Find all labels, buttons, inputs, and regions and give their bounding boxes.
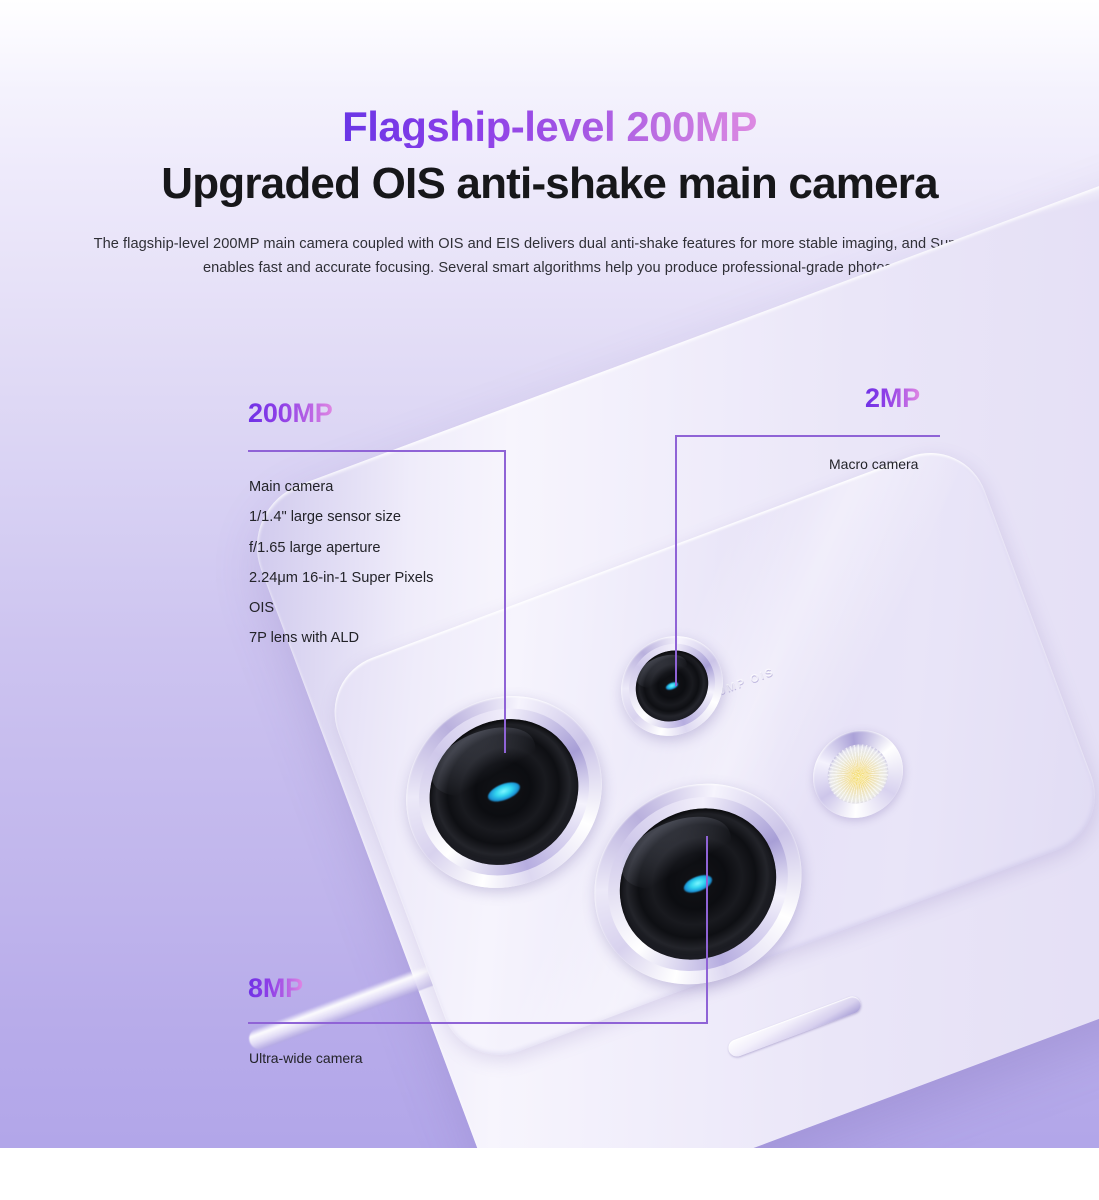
callout-sublabel-macro: Macro camera (829, 456, 918, 472)
leader-line-ultrawide-horizontal (248, 1022, 708, 1024)
callout-label-macro: 2MP (865, 383, 920, 414)
spec-list-main: Main camera 1/1.4" large sensor size f/1… (249, 472, 433, 654)
spec-item: Main camera (249, 472, 433, 502)
callout-label-main: 200MP (248, 398, 333, 429)
phone-illustration: 200MP OIS (0, 0, 1099, 1148)
leader-line-ultrawide-vertical (706, 836, 708, 1023)
spec-item: 1/1.4" large sensor size (249, 502, 433, 532)
spec-item: f/1.65 large aperture (249, 533, 433, 563)
spec-item: OIS (249, 593, 433, 623)
spec-item: 7P lens with ALD (249, 623, 433, 653)
leader-line-macro-vertical (675, 435, 677, 686)
callout-sublabel-ultrawide: Ultra-wide camera (249, 1050, 363, 1066)
leader-line-macro-horizontal (675, 435, 940, 437)
leader-line-main-horizontal (248, 450, 506, 452)
spec-item: 2.24μm 16-in-1 Super Pixels (249, 563, 433, 593)
callout-label-ultrawide: 8MP (248, 973, 303, 1004)
leader-line-main-vertical (504, 450, 506, 753)
product-feature-page: Flagship-level 200MP Upgraded OIS anti-s… (0, 0, 1099, 1200)
